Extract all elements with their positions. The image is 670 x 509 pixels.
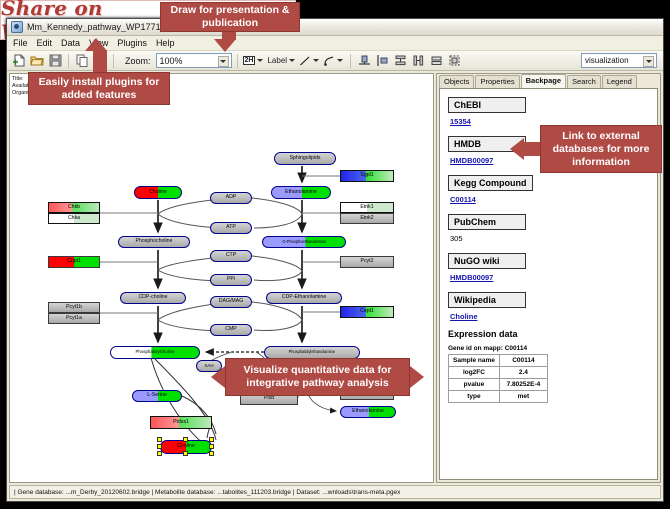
menu-item-help[interactable]: Help xyxy=(155,38,176,48)
gene-node-pcyt1b[interactable]: Pcyt1b xyxy=(48,302,100,313)
status-text: | Gene database: ...m_Derby_20120602.bri… xyxy=(14,489,400,496)
metabolite-node-cdp-ethanolamine[interactable]: CDP-Ethanolamine xyxy=(266,292,342,304)
arc-icon xyxy=(323,55,335,67)
distribute-vertical-icon[interactable] xyxy=(392,53,408,69)
chevron-down-icon[interactable] xyxy=(643,56,654,67)
datanode-icon: 2H xyxy=(243,56,256,65)
callout-plugins-stem xyxy=(93,50,107,72)
backpage-link-wikipedia[interactable]: Choline xyxy=(450,312,657,321)
metabolite-node-label: Phosphatidylethanolamine xyxy=(289,350,335,354)
gene-node-cept1[interactable]: Cept1 xyxy=(340,306,394,318)
gene-id-line: Gene id on mapp: C00114 xyxy=(448,345,657,352)
pathway-canvas[interactable]: Title: Availab Organis xyxy=(9,73,434,483)
metabolite-node-phosphatidylcholine[interactable]: Phosphatidylcholine xyxy=(110,346,200,359)
chevron-down-icon[interactable] xyxy=(313,59,319,62)
metabolite-node-label: O-Phosphoethanolamine xyxy=(282,240,326,244)
callout-visualize-arrow-left-icon xyxy=(211,366,225,388)
chevron-down-icon[interactable] xyxy=(218,56,229,67)
align-top-icon[interactable] xyxy=(356,53,372,69)
gene-node-label: Chka xyxy=(68,216,80,221)
metabolite-node-ctp[interactable]: CTP xyxy=(210,250,252,262)
metabolite-node-label: ATP xyxy=(226,225,236,230)
toolbar-separator xyxy=(113,54,114,68)
screenshot-root: Mm_Kennedy_pathway_WP1771_45176.gpml Fil… xyxy=(0,0,670,509)
gene-node-label: Pisd xyxy=(264,396,274,401)
gene-node-chka[interactable]: Chka xyxy=(48,213,100,224)
gene-node-pcyt1a[interactable]: Pcyt1a xyxy=(48,313,100,324)
visualization-combobox[interactable]: visualization xyxy=(581,53,657,68)
cell-value: C00114 xyxy=(499,355,547,367)
chevron-down-icon[interactable] xyxy=(337,59,343,62)
callout-plugins: Easily install plugins for added feature… xyxy=(28,72,170,105)
metabolite-node-o-phosphoethanolamine[interactable]: O-Phosphoethanolamine xyxy=(262,236,346,248)
table-row: pvalue 7.80252E-4 xyxy=(449,379,548,391)
expression-data-table: Sample name C00114 log2FC 2.4 pvalue 7.8… xyxy=(448,354,548,403)
gene-node-label: Cept1 xyxy=(360,309,374,314)
metabolite-node-label: CMP xyxy=(225,327,237,332)
metabolite-node-ethanolamine[interactable]: Ethanolamine xyxy=(340,406,396,418)
gene-node-chpt1[interactable]: Chpt1 xyxy=(48,256,100,268)
metabolite-node-label: PPi xyxy=(227,277,235,282)
selection-handle[interactable] xyxy=(157,451,162,456)
backpage-header-wikipedia: Wikipedia xyxy=(448,292,526,308)
metabolite-node-label: Phosphatidylcholine xyxy=(135,350,174,354)
cell-value: met xyxy=(499,391,547,403)
metabolite-node-label: ADP xyxy=(226,195,237,200)
table-row: type met xyxy=(449,391,548,403)
chevron-down-icon[interactable] xyxy=(289,59,295,62)
panel-tabs: Objects Properties Backpage Search Legen… xyxy=(437,74,660,88)
gene-node-label: Sgpl1 xyxy=(360,173,373,178)
callout-link-arrow-icon xyxy=(510,138,524,160)
gene-node-label: Ptdss1 xyxy=(173,420,189,425)
status-bar: | Gene database: ...m_Derby_20120602.bri… xyxy=(9,485,661,499)
metabolite-node-label: Ethanolamine xyxy=(285,190,317,195)
metabolite-node-label: CDP-choline xyxy=(138,295,167,300)
gene-node-etnk1[interactable]: Etnk1 xyxy=(340,202,394,213)
cell-key: log2FC xyxy=(449,367,500,379)
tab-search[interactable]: Search xyxy=(567,75,601,88)
metabolite-node-label: L-Serine xyxy=(147,393,167,398)
gene-node-label: Pcyt2 xyxy=(361,259,374,264)
zoom-combobox[interactable]: 100% xyxy=(156,53,232,68)
metabolite-node-label: Sphingolipids xyxy=(290,156,321,161)
metabolite-node-label: Choline xyxy=(149,190,167,195)
menu-item-data[interactable]: Data xyxy=(60,38,81,48)
toolbar-separator xyxy=(237,54,238,68)
callout-link: Link to external databases for more info… xyxy=(540,125,662,173)
metabolite-node-label: DAG/MAG xyxy=(219,299,244,304)
metabolite-node-ppi[interactable]: PPi xyxy=(210,274,252,286)
selection-handle[interactable] xyxy=(157,437,162,442)
visualization-value: visualization xyxy=(585,56,629,65)
stack-icon[interactable] xyxy=(428,53,444,69)
backpage-link-nugo[interactable]: HMDB00097 xyxy=(450,273,657,282)
menu-item-file[interactable]: File xyxy=(12,38,29,48)
gene-node-pcyt2[interactable]: Pcyt2 xyxy=(340,256,394,268)
label-tool[interactable]: Label xyxy=(267,56,295,65)
gene-node-label: Etnk2 xyxy=(360,216,373,221)
toolbar-separator xyxy=(68,54,69,68)
distribute-horizontal-icon[interactable] xyxy=(410,53,426,69)
selection-handle[interactable] xyxy=(183,451,188,456)
new-file-icon[interactable] xyxy=(11,53,27,69)
backpage-link-kegg[interactable]: C00114 xyxy=(450,195,657,204)
backpage-value-pubchem: 305 xyxy=(450,234,657,243)
metabolite-node-label: CTP xyxy=(226,253,236,258)
gene-node-label: Chkb xyxy=(68,205,80,210)
metabolite-node-label: Ethanolamine xyxy=(352,409,384,414)
line-icon xyxy=(299,55,311,67)
cell-key: Sample name xyxy=(449,355,500,367)
toolbar-separator xyxy=(350,54,351,68)
metabolite-node-label: Phosphocholine xyxy=(136,239,173,244)
cell-value: 2.4 xyxy=(499,367,547,379)
tab-objects[interactable]: Objects xyxy=(439,75,474,88)
gene-node-label: Etnk1 xyxy=(360,205,373,210)
selection-handle[interactable] xyxy=(209,437,214,442)
datanode-tool[interactable]: 2H xyxy=(243,56,264,65)
gene-node-ptdss1[interactable]: Ptdss1 xyxy=(150,416,212,429)
callout-draw: Draw for presentation & publication xyxy=(160,2,300,32)
cell-key: type xyxy=(449,391,500,403)
label-tool-text: Label xyxy=(267,56,287,65)
interaction-tool[interactable] xyxy=(323,55,343,67)
metabolite-node-label: Choline xyxy=(177,444,195,449)
metabolite-node-label: CDP-Ethanolamine xyxy=(282,295,326,300)
metabolite-node-sphingolipids[interactable]: Sphingolipids xyxy=(274,152,336,165)
metabolite-node-ethanolamine[interactable]: Ethanolamine xyxy=(271,186,331,199)
cell-value: 7.80252E-4 xyxy=(499,379,547,391)
cell-key: pvalue xyxy=(449,379,500,391)
menu-item-plugins[interactable]: Plugins xyxy=(116,38,148,48)
selection-handle[interactable] xyxy=(209,444,214,449)
group-icon[interactable] xyxy=(446,53,462,69)
save-icon[interactable] xyxy=(47,53,63,69)
metabolite-node-atp[interactable]: ATP xyxy=(210,222,252,234)
application-icon xyxy=(11,21,23,33)
zoom-value: 100% xyxy=(160,56,183,66)
tab-properties[interactable]: Properties xyxy=(475,75,519,88)
callout-visualize: Visualize quantitative data for integrat… xyxy=(225,358,410,396)
copy-icon[interactable] xyxy=(74,53,90,69)
backpage-header-chebi: ChEBI xyxy=(448,97,526,113)
gene-node-etnk2[interactable]: Etnk2 xyxy=(340,213,394,224)
gene-node-label: Pcyt1b xyxy=(66,305,82,310)
table-row: Sample name C00114 xyxy=(449,355,548,367)
title-bar: Mm_Kennedy_pathway_WP1771_45176.gpml xyxy=(7,19,663,36)
chevron-down-icon[interactable] xyxy=(257,59,263,62)
line-tool[interactable] xyxy=(299,55,319,67)
backpage-header-pubchem: PubChem xyxy=(448,214,526,230)
selection-handle[interactable] xyxy=(157,444,162,449)
menu-item-edit[interactable]: Edit xyxy=(36,38,54,48)
metabolite-node-cdp-choline[interactable]: CDP-choline xyxy=(120,292,186,304)
align-left-icon[interactable] xyxy=(374,53,390,69)
callout-plugins-arrow-icon xyxy=(85,38,107,51)
table-row: log2FC 2.4 xyxy=(449,367,548,379)
gene-node-chkb[interactable]: Chkb xyxy=(48,202,100,213)
metabolite-node-cmp[interactable]: CMP xyxy=(210,324,252,336)
metabolite-node-adp[interactable]: ADP xyxy=(210,192,252,204)
callout-visualize-arrow-right-icon xyxy=(410,366,424,388)
gene-node-label: Pcyt1a xyxy=(66,316,82,321)
selection-handle[interactable] xyxy=(209,451,214,456)
zoom-label: Zoom: xyxy=(125,56,151,66)
metabolite-node-choline[interactable]: Choline xyxy=(134,186,182,199)
gene-node-label: Chpt1 xyxy=(67,259,81,264)
metabolite-node-phosphocholine[interactable]: Phosphocholine xyxy=(118,236,190,248)
tab-legend[interactable]: Legend xyxy=(602,75,637,88)
selection-handle[interactable] xyxy=(183,437,188,442)
metabolite-node-l-serine[interactable]: L-Serine xyxy=(132,390,182,402)
callout-draw-arrow-icon xyxy=(214,39,236,52)
backpage-header-nugo: NuGO wiki xyxy=(448,253,526,269)
open-folder-icon[interactable] xyxy=(29,53,45,69)
gene-node-sgpl1[interactable]: Sgpl1 xyxy=(340,170,394,182)
tab-backpage[interactable]: Backpage xyxy=(521,74,566,88)
expression-data-title: Expression data xyxy=(448,329,657,339)
backpage-header-kegg: Kegg Compound xyxy=(448,175,533,191)
metabolite-node-dag-mag[interactable]: DAG/MAG xyxy=(210,296,252,308)
